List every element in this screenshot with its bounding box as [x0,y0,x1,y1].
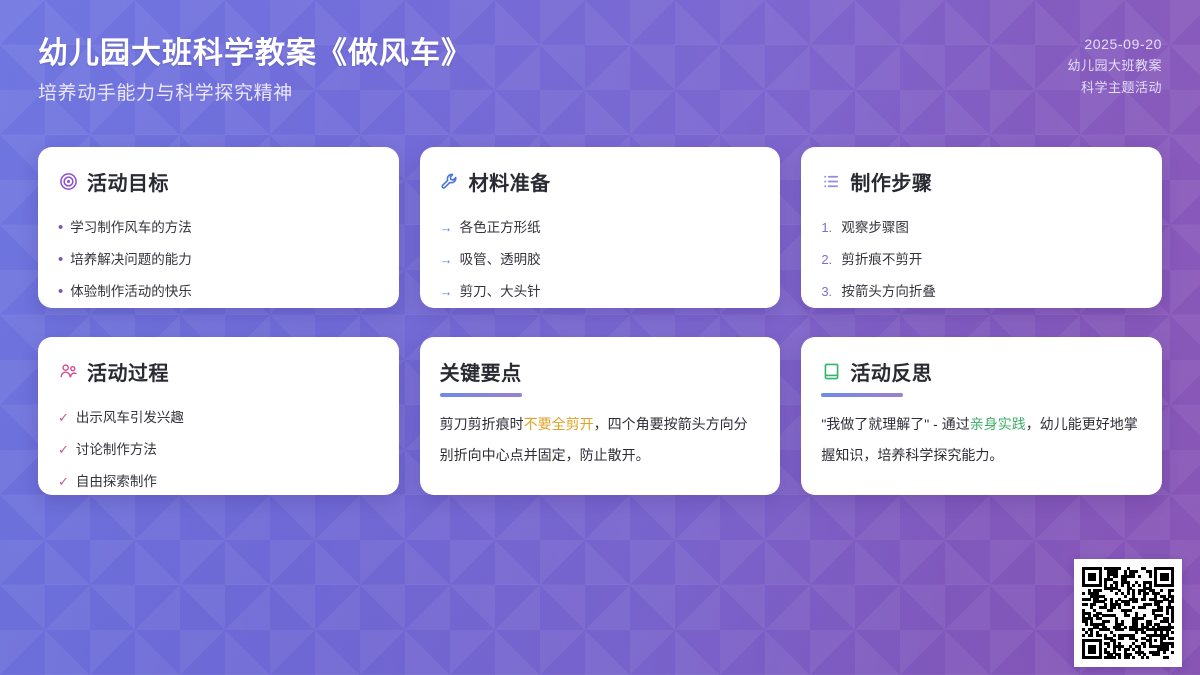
list-item-marker: → [440,277,453,306]
card-materials: 材料准备→各色正方形纸→吸管、透明胶→剪刀、大头针 [420,147,781,308]
list-item-marker: • [58,245,63,274]
list-item-marker: → [440,213,453,242]
card-item-list: •学习制作风车的方法•培养解决问题的能力•体验制作活动的快乐 [58,213,379,306]
list-item-label: 剪刀、大头针 [460,277,541,306]
card-title: 制作步骤 [850,167,932,196]
list-item-label: 按箭头方向折叠 [841,277,936,306]
list-item-marker: ✓ [58,435,69,464]
list-item-marker: 2. [821,245,834,274]
list-item-label: 吸管、透明胶 [460,245,541,274]
card-title: 活动反思 [850,357,932,386]
card-header: 活动反思 [821,357,1142,386]
page-subtitle: 培养动手能力与科学探究精神 [38,78,472,105]
card-paragraph: "我做了就理解了" - 通过亲身实践，幼儿能更好地掌握知识，培养科学探究能力。 [821,409,1142,471]
card-item-list: ✓出示风车引发兴趣✓讨论制作方法✓自由探索制作 [58,403,379,495]
list-item: •学习制作风车的方法 [58,213,379,242]
list-item: 1.观察步骤图 [821,213,1142,242]
header-meta-block: 2025-09-20 幼儿园大班教案 科学主题活动 [1067,36,1162,96]
card-title: 活动过程 [87,357,169,386]
header-date: 2025-09-20 [1084,36,1162,52]
list-item-marker: → [440,245,453,274]
list-item-marker: ✓ [58,467,69,495]
card-steps: 制作步骤1.观察步骤图2.剪折痕不剪开3.按箭头方向折叠 [801,147,1162,308]
list-item-marker: • [58,277,63,306]
card-title-underline [821,393,903,397]
list-item-marker: ✓ [58,403,69,432]
target-icon [58,172,78,192]
paragraph-highlight: 不要全剪开 [524,416,594,432]
list-item: •培养解决问题的能力 [58,245,379,274]
header-left-block: 幼儿园大班科学教案《做风车》 培养动手能力与科学探究精神 [38,28,472,105]
slide-root: 幼儿园大班科学教案《做风车》 培养动手能力与科学探究精神 2025-09-20 … [0,0,1200,675]
book-icon [821,362,841,382]
card-paragraph: 剪刀剪折痕时不要全剪开，四个角要按箭头方向分别折向中心点并固定，防止散开。 [440,409,761,471]
header-meta-line-2: 科学主题活动 [1081,77,1162,96]
users-icon [58,362,78,382]
list-item: 2.剪折痕不剪开 [821,245,1142,274]
card-objectives: 活动目标•学习制作风车的方法•培养解决问题的能力•体验制作活动的快乐 [38,147,399,308]
wrench-icon [440,172,460,192]
card-header: 活动过程 [58,357,379,386]
card-header: 制作步骤 [821,167,1142,196]
card-header: 关键要点 [440,357,761,386]
page-title: 幼儿园大班科学教案《做风车》 [38,28,472,72]
list-item-label: 学习制作风车的方法 [70,213,192,242]
list-item-marker: 1. [821,213,834,242]
list-item-marker: • [58,213,63,242]
list-item-label: 出示风车引发兴趣 [76,403,184,432]
qr-canvas [1082,567,1174,659]
list-item-label: 讨论制作方法 [76,435,157,464]
card-item-list: →各色正方形纸→吸管、透明胶→剪刀、大头针 [440,213,761,306]
card-grid: 活动目标•学习制作风车的方法•培养解决问题的能力•体验制作活动的快乐材料准备→各… [38,147,1162,495]
list-item-label: 体验制作活动的快乐 [70,277,192,306]
card-item-list: 1.观察步骤图2.剪折痕不剪开3.按箭头方向折叠 [821,213,1142,306]
list-item: ✓出示风车引发兴趣 [58,403,379,432]
list-item: ✓讨论制作方法 [58,435,379,464]
list-item-marker: 3. [821,277,834,306]
header-meta-line-1: 幼儿园大班教案 [1067,55,1162,74]
paragraph-text-pre: 剪刀剪折痕时 [440,416,524,432]
card-key-points: 关键要点剪刀剪折痕时不要全剪开，四个角要按箭头方向分别折向中心点并固定，防止散开… [420,337,781,495]
list-item: →各色正方形纸 [440,213,761,242]
card-title: 关键要点 [440,357,522,386]
card-header: 活动目标 [58,167,379,196]
list-item: 3.按箭头方向折叠 [821,277,1142,306]
card-process: 活动过程✓出示风车引发兴趣✓讨论制作方法✓自由探索制作 [38,337,399,495]
slide-header: 幼儿园大班科学教案《做风车》 培养动手能力与科学探究精神 2025-09-20 … [0,0,1200,132]
list-item-label: 剪折痕不剪开 [841,245,922,274]
list-item: →剪刀、大头针 [440,277,761,306]
card-title: 材料准备 [469,167,551,196]
card-title-underline [440,393,522,397]
card-reflection: 活动反思"我做了就理解了" - 通过亲身实践，幼儿能更好地掌握知识，培养科学探究… [801,337,1162,495]
list-item: →吸管、透明胶 [440,245,761,274]
qr-code[interactable] [1074,559,1182,667]
list-item-label: 自由探索制作 [76,467,157,495]
list-item-label: 观察步骤图 [841,213,909,242]
card-header: 材料准备 [440,167,761,196]
list-icon [821,172,841,192]
card-title: 活动目标 [87,167,169,196]
list-item-label: 培养解决问题的能力 [70,245,192,274]
list-item-label: 各色正方形纸 [460,213,541,242]
paragraph-text-pre: "我做了就理解了" - 通过 [821,416,969,432]
list-item: •体验制作活动的快乐 [58,277,379,306]
paragraph-highlight: 亲身实践 [970,416,1026,432]
list-item: ✓自由探索制作 [58,467,379,495]
